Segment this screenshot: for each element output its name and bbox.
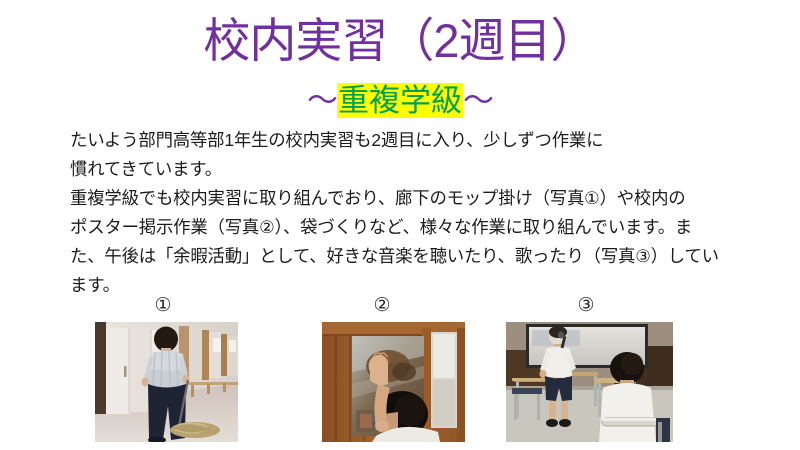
body-line: ポスター掲示作業（写真②）、袋づくりなど、様々な作業に取り組んでいます。ま xyxy=(70,213,736,242)
body-paragraph: たいよう部門高等部1年生の校内実習も2週目に入り、少しずつ作業に 慣れてきていま… xyxy=(70,126,736,300)
subtitle-highlighted-text: 重複学級 xyxy=(337,83,463,118)
photo-corridor-mopping-image xyxy=(95,322,238,442)
page-subtitle: 〜重複学級〜 xyxy=(0,84,800,119)
photo-classroom-singing-image xyxy=(506,322,673,442)
subtitle-tilde-right: 〜 xyxy=(463,83,493,118)
body-line: たいよう部門高等部1年生の校内実習も2週目に入り、少しずつ作業に xyxy=(70,126,736,155)
page-title: 校内実習（2週目） xyxy=(0,16,800,67)
body-line: 重複学級でも校内実習に取り組んでおり、廊下のモップ掛け（写真①）や校内の xyxy=(70,184,736,213)
photo-corridor-mopping xyxy=(95,322,238,442)
body-line: 慣れてきています。 xyxy=(70,155,736,184)
subtitle-tilde-left: 〜 xyxy=(307,83,337,118)
photo-classroom-singing xyxy=(506,322,673,442)
photo-poster-display-image xyxy=(322,322,465,442)
photo-poster-display xyxy=(322,322,465,442)
photo-caption-2: ② xyxy=(347,296,417,315)
photo-caption-3: ③ xyxy=(551,296,621,315)
body-line: た、午後は「余暇活動」として、好きな音楽を聴いたり、歌ったり（写真③）してい xyxy=(70,242,736,271)
photo-caption-1: ① xyxy=(128,296,198,315)
